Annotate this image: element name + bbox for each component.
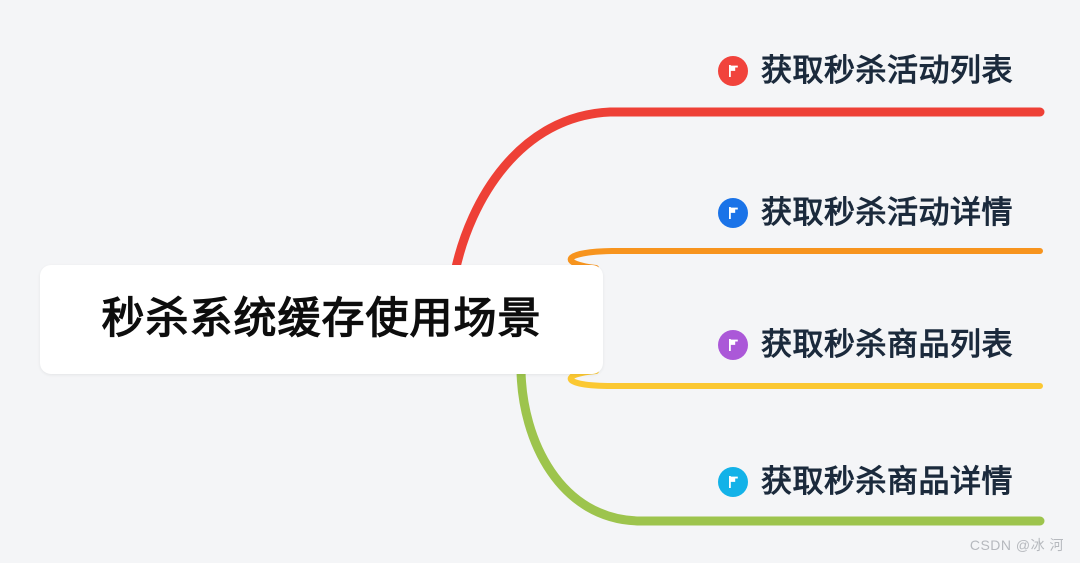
flag-icon (718, 467, 748, 497)
watermark: CSDN @冰 河 (970, 535, 1064, 555)
connector-line-1 (571, 251, 1040, 268)
mindmap-canvas: 秒杀系统缓存使用场景 获取秒杀活动列表 获取秒杀活动详情 获取秒杀商品列表 (0, 0, 1080, 563)
branch-node-0[interactable]: 获取秒杀活动列表 (718, 55, 1013, 86)
flag-icon (718, 330, 748, 360)
branch-node-1[interactable]: 获取秒杀活动详情 (718, 197, 1013, 228)
branch-node-2[interactable]: 获取秒杀商品列表 (718, 329, 1013, 360)
branch-label-3: 获取秒杀商品详情 (761, 466, 1013, 497)
branch-label-2: 获取秒杀商品列表 (761, 329, 1013, 360)
branch-node-3[interactable]: 获取秒杀商品详情 (718, 466, 1013, 497)
branch-label-0: 获取秒杀活动列表 (761, 55, 1013, 86)
central-node[interactable]: 秒杀系统缓存使用场景 (40, 265, 603, 374)
connector-line-0 (455, 112, 1040, 272)
flag-icon (718, 56, 748, 86)
connector-line-2 (571, 371, 1040, 386)
flag-icon (718, 198, 748, 228)
central-node-label: 秒杀系统缓存使用场景 (102, 298, 542, 341)
branch-label-1: 获取秒杀活动详情 (761, 197, 1013, 228)
